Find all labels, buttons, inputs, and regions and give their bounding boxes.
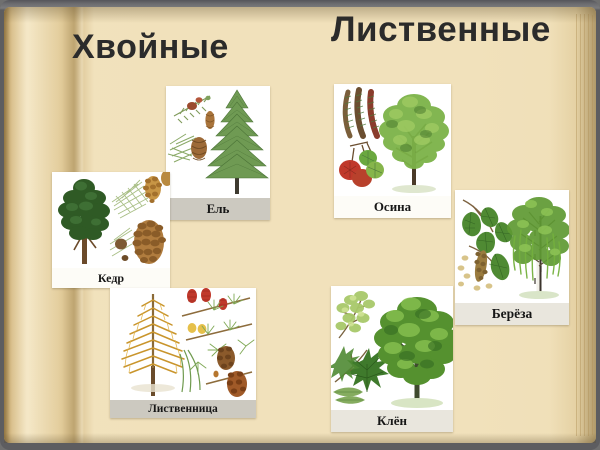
- card-label-bereza: Берёза: [455, 303, 569, 325]
- card-listvennitsa[interactable]: Лиственница: [110, 288, 256, 418]
- card-bereza[interactable]: Берёза: [455, 190, 569, 325]
- heading-conifer: Хвойные: [72, 30, 229, 65]
- larch-illustration: [110, 288, 256, 400]
- card-el[interactable]: Ель: [166, 86, 270, 220]
- cedar-illustration: [52, 172, 170, 268]
- presentation-slide: Хвойные Лиственные: [0, 0, 600, 450]
- card-label-el: Ель: [166, 198, 270, 220]
- card-label-klen: Клён: [331, 410, 453, 432]
- card-klen[interactable]: Клён: [331, 286, 453, 432]
- card-label-osina: Осина: [334, 196, 451, 218]
- card-kedr[interactable]: Кедр: [52, 172, 170, 288]
- maple-illustration: [331, 286, 453, 410]
- aspen-illustration: [334, 84, 451, 196]
- heading-deciduous: Лиственные: [331, 12, 509, 48]
- card-label-kedr: Кедр: [52, 268, 170, 288]
- spruce-illustration: [166, 86, 270, 198]
- birch-illustration: [455, 190, 569, 303]
- card-label-listvennitsa: Лиственница: [110, 400, 256, 418]
- card-osina[interactable]: Осина: [334, 84, 451, 218]
